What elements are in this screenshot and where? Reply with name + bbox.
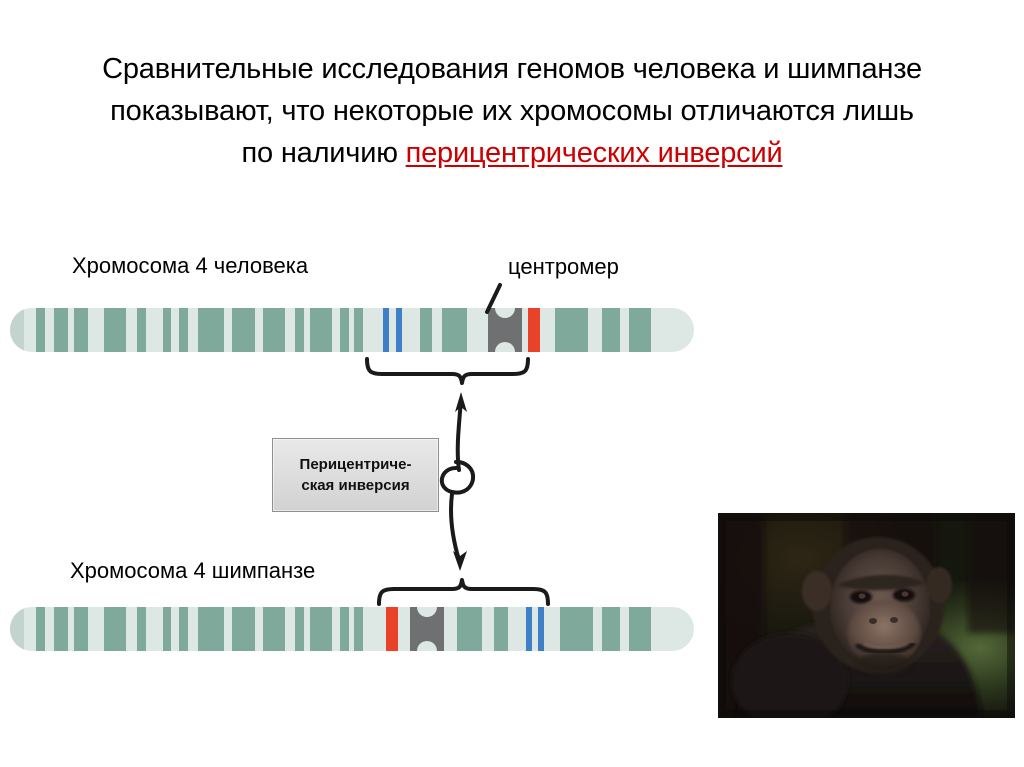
chromosome-band-green — [420, 308, 432, 352]
chromosome-band-green — [457, 607, 482, 651]
centromere-marker — [410, 607, 444, 651]
inversion-arrowhead-down-icon — [453, 551, 467, 571]
human-chromosome-4-diagram — [10, 308, 694, 352]
chromosome-band-green — [555, 308, 588, 352]
chromosome-band-blue — [526, 607, 532, 651]
page-title: Сравнительные исследования геномов челов… — [12, 48, 1012, 174]
slide-root: Сравнительные исследования геномов челов… — [0, 0, 1024, 767]
chromosome-band-green — [104, 308, 126, 352]
chromosome-band-green — [74, 607, 88, 651]
chimp-chromosome-label: Хромосома 4 шимпанзе — [70, 558, 315, 584]
chromosome-band-blue — [538, 607, 544, 651]
chromosome-band-green — [36, 308, 45, 352]
chromosome-band-green — [263, 607, 285, 651]
chromosome-band-green — [232, 607, 255, 651]
human-chromosome-label: Хромосома 4 человека — [72, 253, 308, 279]
chromosome-band-green — [198, 607, 224, 651]
chromosome-band-green — [629, 607, 651, 651]
centromere-marker — [488, 308, 522, 352]
chromosome-band-red — [386, 607, 398, 651]
chromosome-band-green — [310, 308, 332, 352]
inversion-loop-arrow-icon — [442, 400, 473, 560]
chromosome-band-blue — [396, 308, 402, 352]
title-accent-term: перицентрических инверсий — [406, 137, 783, 169]
chromosome-left-tip — [10, 308, 24, 352]
chromosome-band-green — [494, 607, 508, 651]
lower-brace-icon — [379, 580, 548, 604]
chromosome-left-tip — [10, 607, 24, 651]
chromosome-band-green — [179, 607, 188, 651]
chromosome-band-green — [163, 607, 171, 651]
chromosome-band-green — [560, 607, 593, 651]
chromosome-band-red — [528, 308, 540, 352]
chromosome-band-blue — [383, 308, 389, 352]
chimp-chromosome-4-diagram — [10, 607, 694, 651]
chromosome-band-green — [54, 607, 68, 651]
title-line-1: Сравнительные исследования геномов челов… — [102, 53, 922, 85]
chromosome-band-green — [354, 607, 363, 651]
chromosome-band-green — [54, 308, 68, 352]
chromosome-band-green — [310, 607, 332, 651]
chromosome-band-green — [104, 607, 126, 651]
chromosome-band-green — [629, 308, 651, 352]
chromosome-band-green — [163, 308, 171, 352]
chromosome-band-green — [137, 607, 146, 651]
chromosome-band-green — [340, 308, 349, 352]
chimpanzee-photo — [718, 513, 1015, 718]
centromere-label: центромер — [508, 254, 619, 280]
upper-brace-icon — [367, 359, 528, 383]
chromosome-band-green — [602, 308, 620, 352]
inversion-box-line-2: ская инверсия — [301, 477, 409, 494]
chromosome-band-green — [137, 308, 146, 352]
chromosome-band-green — [295, 308, 304, 352]
inversion-box-text: Перицентриче- ская инверсия — [300, 454, 412, 496]
title-line-3-prefix: по наличию — [242, 137, 406, 169]
chromosome-band-green — [602, 607, 620, 651]
chimpanzee-photo-image — [718, 513, 1015, 718]
chromosome-band-green — [36, 607, 45, 651]
inversion-box-line-1: Перицентриче- — [300, 456, 412, 473]
chromosome-band-green — [442, 308, 467, 352]
title-line-2: показывают, что некоторые их хромосомы о… — [110, 95, 914, 127]
chromosome-band-green — [295, 607, 304, 651]
chromosome-band-green — [340, 607, 349, 651]
chromosome-band-green — [232, 308, 255, 352]
chromosome-band-green — [74, 308, 88, 352]
chromosome-band-green — [179, 308, 188, 352]
inversion-arrowhead-up-icon — [455, 392, 467, 412]
chromosome-band-green — [263, 308, 285, 352]
chromosome-band-green — [354, 308, 363, 352]
chromosome-band-green — [198, 308, 224, 352]
pericentric-inversion-callout-box: Перицентриче- ская инверсия — [272, 438, 439, 512]
